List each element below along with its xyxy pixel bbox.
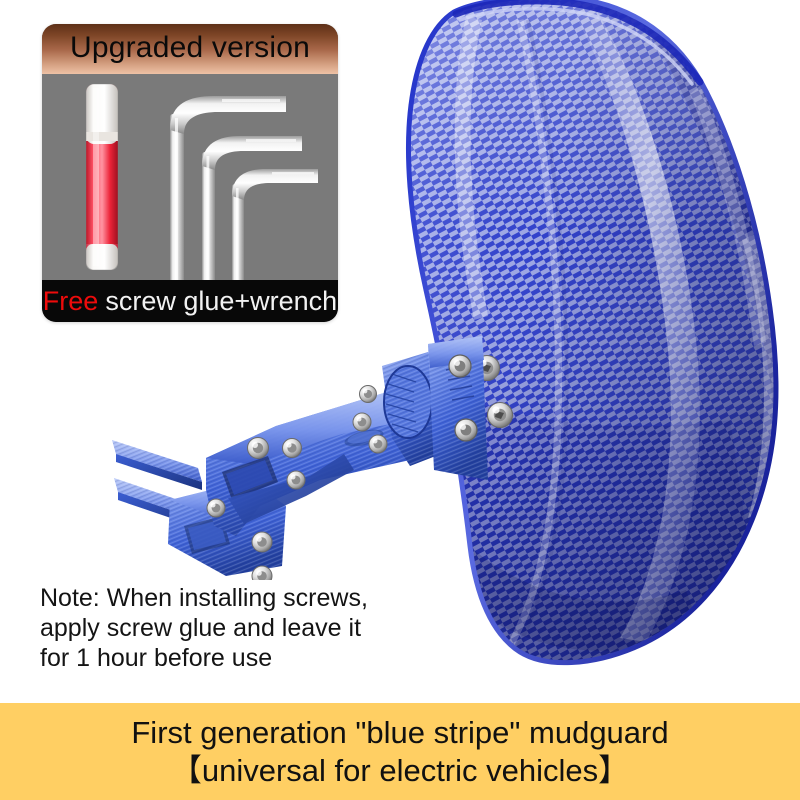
product-caption-banner: First generation "blue stripe" mudguard … — [0, 703, 800, 800]
screw-glue-tube — [86, 84, 118, 270]
hex-wrench-medium — [202, 136, 302, 280]
hex-wrench-large — [170, 96, 286, 280]
banner-subtitle: 【universal for electric vehicles】 — [171, 752, 629, 790]
upgrade-panel-title: Upgraded version — [70, 33, 310, 66]
upgraded-version-panel: Upgraded version — [42, 24, 338, 322]
installation-note: Note: When installing screws, apply scre… — [40, 583, 460, 673]
product-photo-stage: Upgraded version — [0, 0, 800, 703]
note-line-3: for 1 hour before use — [40, 643, 460, 673]
free-gift-bar: Free screw glue+wrench — [42, 280, 338, 322]
hex-wrench-small — [232, 169, 318, 280]
adjustable-mounting-bracket — [110, 330, 490, 580]
free-items-label: screw glue+wrench — [105, 288, 337, 315]
note-line-1: Note: When installing screws, — [40, 583, 460, 613]
mudguard-screw-lower — [488, 403, 513, 428]
free-label: Free — [43, 288, 99, 315]
note-line-2: apply screw glue and leave it — [40, 613, 460, 643]
banner-title: First generation "blue stripe" mudguard — [131, 714, 668, 752]
upgrade-panel-header: Upgraded version — [42, 24, 338, 74]
accessory-kit-image — [42, 74, 338, 280]
